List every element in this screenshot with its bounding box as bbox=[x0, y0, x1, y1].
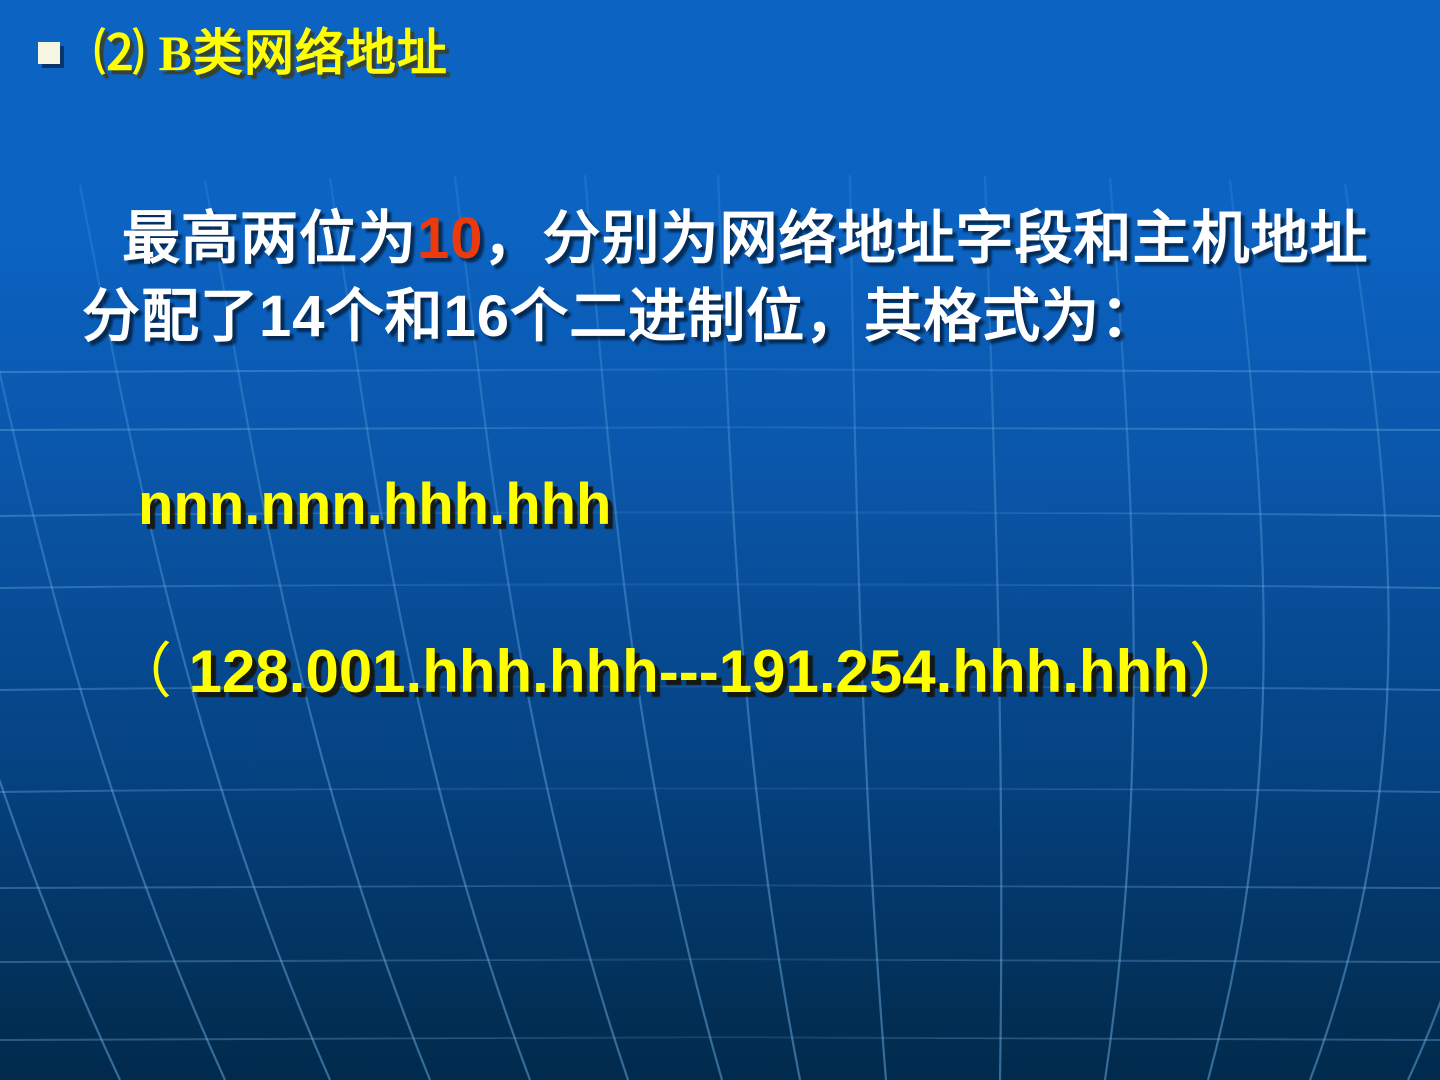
range-value: 128.001.hhh.hhh---191.254.hhh.hhh bbox=[172, 638, 1189, 705]
body-paragraph: 最高两位为10，分别为网络地址字段和主机地址分配了14个和16个二进制位，其格式… bbox=[82, 200, 1402, 356]
address-range-line: （ 128.001.hhh.hhh---191.254.hhh.hhh） bbox=[112, 642, 1249, 702]
range-open-paren: （ bbox=[112, 639, 172, 705]
address-format-line: nnn.nnn.hhh.hhh bbox=[138, 476, 612, 534]
slide-title-row: ⑵ B类网络地址 bbox=[0, 18, 1440, 88]
body-text-part-1: 最高两位为 bbox=[122, 206, 417, 271]
globe-grid-background bbox=[0, 0, 1440, 1080]
body-text-part-4: 个二进制位，其格式为： bbox=[510, 284, 1159, 349]
page-title: ⑵ B类网络地址 bbox=[94, 28, 448, 78]
body-text-part-3: 个和 bbox=[326, 284, 444, 349]
network-bits-value: 14 bbox=[259, 284, 326, 349]
square-bullet-icon bbox=[38, 42, 60, 64]
host-bits-value: 16 bbox=[444, 284, 511, 349]
range-close-paren: ） bbox=[1189, 639, 1249, 705]
presentation-slide: ⑵ B类网络地址 最高两位为10，分别为网络地址字段和主机地址分配了14个和16… bbox=[0, 0, 1440, 1080]
highlight-bits-value: 10 bbox=[417, 206, 484, 271]
